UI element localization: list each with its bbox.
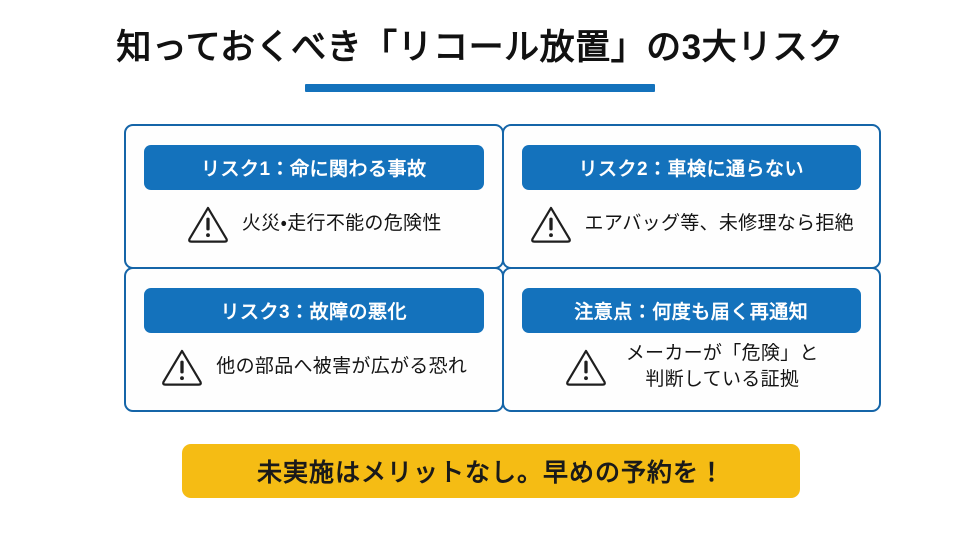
risk-card-4-body-text: メーカーが「危険」と 判断している証拠 [626,341,819,391]
risk-card-2[interactable]: リスク2：車検に通らない エアバッグ等、未修理なら拒絶 [502,124,882,269]
risk-card-4-body-line-2: 判断している証拠 [626,367,819,392]
warning-triangle-icon [564,346,608,388]
risk-card-3-header-label: リスク3：故障の悪化 [220,297,407,324]
risk-card-1-header: リスク1：命に関わる事故 [144,145,484,190]
risk-card-1-body: 火災・走行不能の危険性 [144,190,484,257]
cta-banner[interactable]: 未実施はメリットなし。早めの予約を！ [182,444,800,498]
page-title: 知っておくべき「リコール放置」の3大リスク [0,26,960,70]
slide-root: 知っておくべき「リコール放置」の3大リスク リスク1：命に関わる事故 火災・走行… [0,0,960,540]
risk-card-3-body: 他の部品へ被害が広がる恐れ [144,333,484,400]
risk-card-2-header-label: リスク2：車検に通らない [578,154,804,181]
title-underline-bar [305,84,655,92]
risk-card-4-body: メーカーが「危険」と 判断している証拠 [522,333,862,400]
risk-card-1-body-text: 火災・走行不能の危険性 [242,211,442,236]
risk-card-2-header: リスク2：車検に通らない [522,145,862,190]
warning-triangle-icon [529,203,573,245]
risk-card-3-body-text: 他の部品へ被害が広がる恐れ [216,354,467,379]
risk-card-grid: リスク1：命に関わる事故 火災・走行不能の危険性 リスク2：車検に通らない [125,125,880,411]
risk-card-1[interactable]: リスク1：命に関わる事故 火災・走行不能の危険性 [124,124,504,269]
cta-banner-label: 未実施はメリットなし。早めの予約を！ [257,453,725,489]
warning-triangle-icon [160,346,204,388]
page-title-text: 知っておくべき「リコール放置」の3大リスク [0,26,960,70]
risk-card-4-header-label: 注意点：何度も届く再通知 [574,297,808,324]
risk-card-2-body: エアバッグ等、未修理なら拒絶 [522,190,862,257]
risk-card-4-header: 注意点：何度も届く再通知 [522,288,862,333]
risk-card-2-body-text: エアバッグ等、未修理なら拒絶 [585,211,854,236]
risk-card-3[interactable]: リスク3：故障の悪化 他の部品へ被害が広がる恐れ [124,267,504,412]
risk-card-4-body-line-1: メーカーが「危険」と [626,341,819,366]
warning-triangle-icon [186,203,230,245]
risk-card-1-header-label: リスク1：命に関わる事故 [201,154,427,181]
risk-card-4[interactable]: 注意点：何度も届く再通知 メーカーが「危険」と 判断している証拠 [502,267,882,412]
risk-card-3-header: リスク3：故障の悪化 [144,288,484,333]
